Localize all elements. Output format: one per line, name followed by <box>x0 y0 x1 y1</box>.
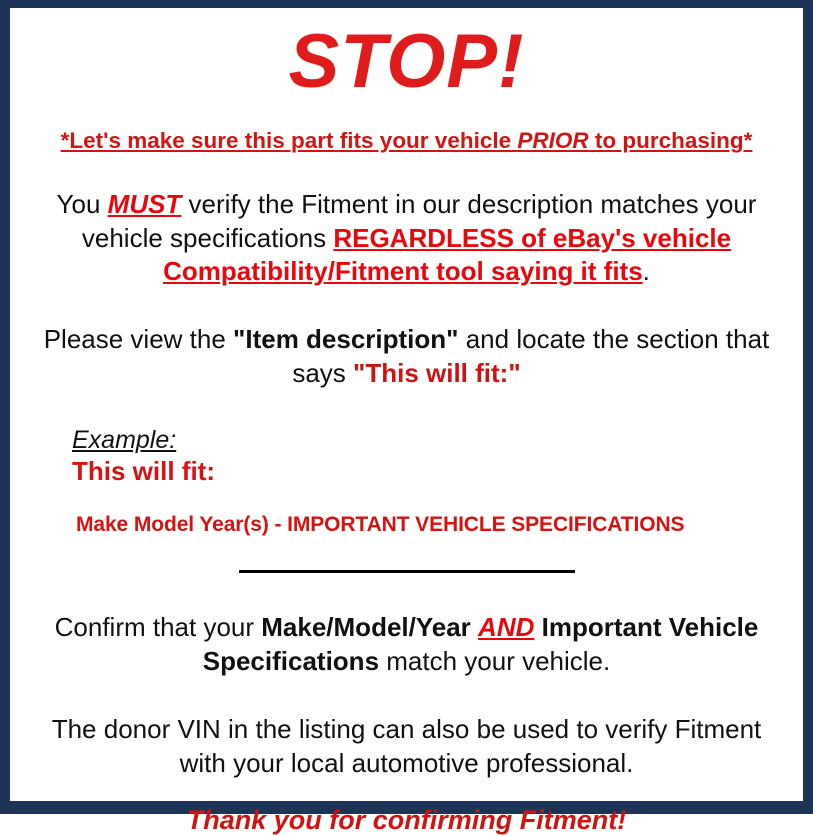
confirm-seg1: Confirm that your <box>55 612 262 642</box>
emphasis-this-will-fit: "This will fit:" <box>353 358 521 388</box>
emphasis-make-model-year: Make/Model/Year <box>261 612 471 642</box>
paragraph-donor-vin: The donor VIN in the listing can also be… <box>26 679 787 781</box>
must-seg3: . <box>643 256 650 286</box>
example-this-will-fit: This will fit: <box>72 454 787 487</box>
view-seg1: Please view the <box>44 324 233 354</box>
subheading-text-after: to purchasing* <box>589 128 753 153</box>
fitment-subheading: *Let's make sure this part fits your veh… <box>26 100 787 154</box>
paragraph-confirm: Confirm that your Make/Model/Year AND Im… <box>26 581 787 679</box>
fitment-notice-body: STOP! *Let's make sure this part fits yo… <box>10 8 803 801</box>
subheading-emphasis-prior: PRIOR <box>517 128 588 153</box>
example-block: Example: This will fit: Make Model Year(… <box>26 391 787 536</box>
emphasis-item-description: "Item description" <box>233 324 458 354</box>
paragraph-item-description: Please view the "Item description" and l… <box>26 289 787 391</box>
stop-heading: STOP! <box>26 8 787 100</box>
example-label: Example: <box>72 427 787 455</box>
confirm-seg2: match your vehicle. <box>379 646 610 676</box>
emphasis-and: AND <box>478 612 534 642</box>
horizontal-divider <box>239 570 575 573</box>
must-seg1: You <box>57 189 108 219</box>
fitment-notice-card: STOP! *Let's make sure this part fits yo… <box>0 0 813 814</box>
subheading-text-before: *Let's make sure this part fits your veh… <box>61 128 518 153</box>
paragraph-must-verify: You MUST verify the Fitment in our descr… <box>26 154 787 289</box>
thank-you-line: Thank you for confirming Fitment! <box>26 780 787 836</box>
emphasis-must: MUST <box>108 189 182 219</box>
divider-wrap <box>26 536 787 581</box>
example-spec-line: Make Model Year(s) - IMPORTANT VEHICLE S… <box>72 487 787 536</box>
